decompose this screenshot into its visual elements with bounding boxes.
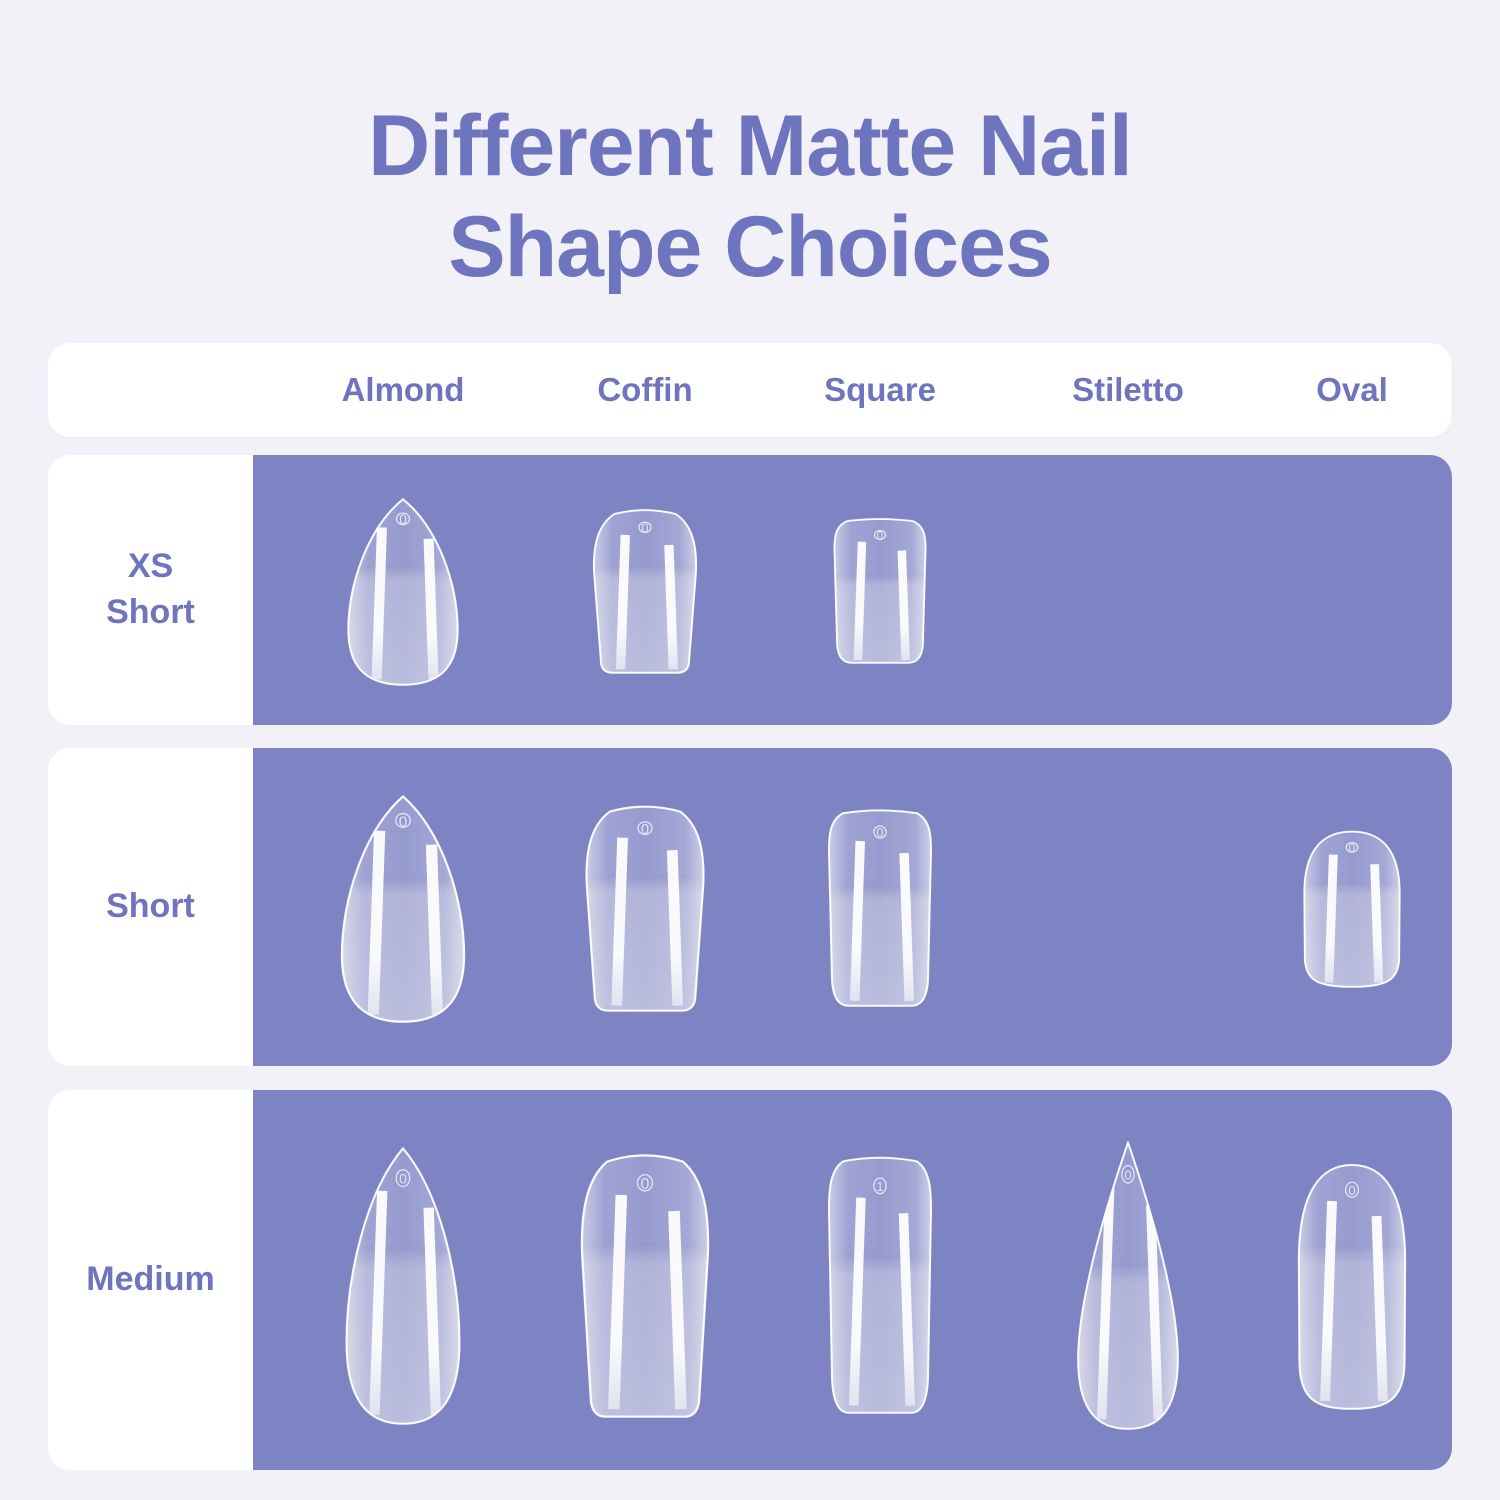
nail-cell-square-2[interactable]: 1	[760, 1090, 1000, 1470]
page-title: Different Matte Nail Shape Choices	[0, 96, 1500, 299]
svg-text:0: 0	[877, 531, 883, 543]
nail-cell-coffin-2[interactable]: 0	[525, 1090, 765, 1470]
nail-tip-almond: 0	[344, 497, 462, 687]
column-header-stiletto: Stiletto	[998, 343, 1258, 437]
size-row: XS Short000	[48, 455, 1452, 725]
nail-cell-oval-1[interactable]: 0	[1232, 748, 1472, 1066]
row-label: Medium	[86, 1257, 214, 1303]
column-header-coffin: Coffin	[515, 343, 775, 437]
nail-cell-oval-2[interactable]: 0	[1232, 1090, 1472, 1470]
row-label-cell: Short	[48, 748, 253, 1066]
svg-text:0: 0	[399, 1171, 407, 1187]
svg-text:0: 0	[876, 825, 883, 840]
svg-text:0: 0	[399, 813, 407, 830]
nail-tip-square: 1	[824, 1156, 936, 1416]
nail-tip-coffin: 0	[590, 508, 700, 676]
nail-cell-almond-1[interactable]: 0	[283, 748, 523, 1066]
nail-tip-almond: 0	[342, 1146, 464, 1426]
nail-cell-coffin-1[interactable]: 0	[525, 748, 765, 1066]
nail-cell-square-0[interactable]: 0	[760, 455, 1000, 725]
svg-text:0: 0	[641, 521, 648, 535]
nail-cell-square-1[interactable]: 0	[760, 748, 1000, 1066]
nail-tip-stiletto: 0	[1073, 1141, 1183, 1431]
nail-cell-coffin-0[interactable]: 0	[525, 455, 765, 725]
page-title-line-1: Different Matte Nail	[0, 96, 1500, 197]
size-row: Short0000	[48, 748, 1452, 1066]
nail-tip-coffin: 0	[577, 1152, 713, 1420]
nail-cell-stiletto-2[interactable]: 0	[1008, 1090, 1248, 1470]
column-header-grid: AlmondCoffinSquareStilettoOval	[248, 343, 1452, 437]
column-header-oval: Oval	[1222, 343, 1482, 437]
svg-text:0: 0	[1348, 1183, 1355, 1198]
page-title-line-2: Shape Choices	[0, 197, 1500, 298]
svg-text:0: 0	[1124, 1168, 1131, 1182]
size-row: Medium00100	[48, 1090, 1452, 1470]
row-label: Short	[106, 884, 195, 930]
infographic-page: Different Matte Nail Shape Choices Almon…	[0, 0, 1500, 1500]
svg-text:0: 0	[399, 512, 407, 527]
svg-text:0: 0	[1349, 841, 1356, 855]
column-header-square: Square	[750, 343, 1010, 437]
nail-cell-almond-2[interactable]: 0	[283, 1090, 523, 1470]
nail-cell-almond-0[interactable]: 0	[283, 455, 523, 725]
row-label-cell: XS Short	[48, 455, 253, 725]
svg-text:0: 0	[641, 822, 649, 838]
nail-tip-square: 0	[830, 518, 930, 666]
row-label: XS Short	[106, 544, 195, 636]
nail-tip-almond: 0	[337, 794, 469, 1024]
svg-text:0: 0	[641, 1176, 650, 1193]
svg-text:1: 1	[876, 1179, 883, 1194]
column-header-almond: Almond	[273, 343, 533, 437]
nail-tip-square: 0	[824, 809, 936, 1009]
nail-tip-oval: 0	[1294, 1161, 1410, 1411]
nail-tip-oval: 0	[1300, 829, 1404, 989]
nail-tip-coffin: 0	[582, 804, 708, 1014]
column-header-card: AlmondCoffinSquareStilettoOval	[48, 343, 1452, 437]
row-label-cell: Medium	[48, 1090, 253, 1470]
